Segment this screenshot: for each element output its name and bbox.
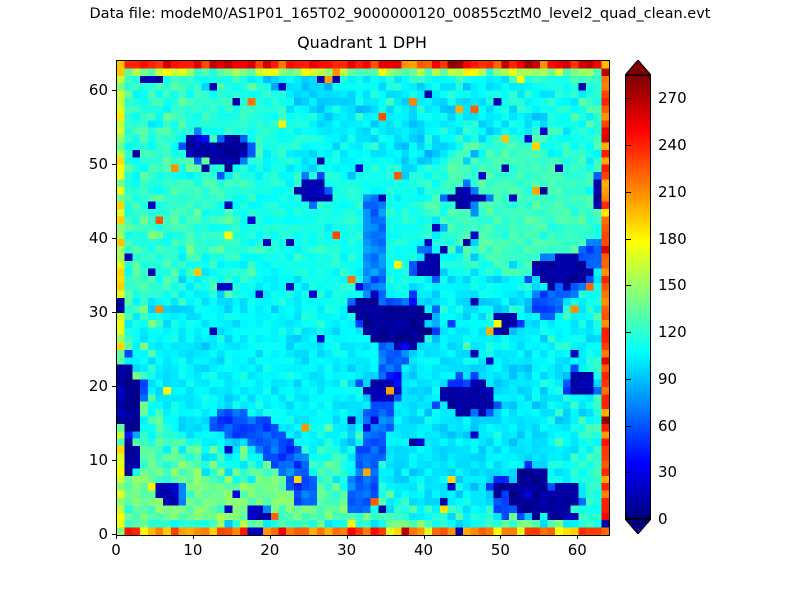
colorbar-extend-max-arrow [625,60,651,75]
y-tick [112,164,116,165]
x-tick-label: 30 [337,541,356,559]
colorbar-tick [626,145,631,146]
x-tick [347,535,348,539]
colorbar-tick [626,426,631,427]
x-tick-label: 10 [183,541,202,559]
y-tick [112,312,116,313]
colorbar-tick [626,519,631,520]
y-tick-label: 60 [72,81,108,99]
y-tick-label: 10 [72,451,108,469]
axes-title: Quadrant 1 DPH [116,33,608,52]
colorbar-tick [626,192,631,193]
x-tick-label: 40 [414,541,433,559]
colorbar-tick-label: 210 [658,183,687,201]
colorbar-tick [626,472,631,473]
colorbar[interactable]: 0306090120150180210240270 [625,60,651,534]
colorbar-tick [626,332,631,333]
y-tick [112,238,116,239]
heatmap-image[interactable] [117,61,609,535]
colorbar-tick-label: 270 [658,89,687,107]
colorbar-tick [626,239,631,240]
colorbar-extend-min-arrow [625,519,651,534]
x-tick-label: 50 [491,541,510,559]
y-tick [112,460,116,461]
heatmap-axes[interactable] [116,60,610,536]
y-tick-label: 30 [72,303,108,321]
y-tick-label: 40 [72,229,108,247]
x-tick [270,535,271,539]
x-tick-label: 0 [111,541,121,559]
colorbar-tick [626,379,631,380]
colorbar-tick-label: 30 [658,463,677,481]
colorbar-tick-label: 120 [658,323,687,341]
colorbar-tick-label: 180 [658,230,687,248]
colorbar-gradient [625,75,651,519]
x-tick [577,535,578,539]
y-tick-label: 0 [72,525,108,543]
x-tick [116,535,117,539]
colorbar-tick-label: 60 [658,417,677,435]
colorbar-tick-label: 150 [658,276,687,294]
y-tick [112,386,116,387]
figure-canvas: Data file: modeM0/AS1P01_165T02_90000001… [0,0,800,600]
figure-suptitle: Data file: modeM0/AS1P01_165T02_90000001… [0,6,800,22]
x-tick [193,535,194,539]
y-tick-label: 20 [72,377,108,395]
y-tick [112,534,116,535]
colorbar-tick [626,285,631,286]
x-tick [424,535,425,539]
x-tick [500,535,501,539]
colorbar-tick-label: 240 [658,136,687,154]
x-tick-label: 60 [568,541,587,559]
colorbar-tick-label: 0 [658,510,668,528]
y-tick-label: 50 [72,155,108,173]
x-tick-label: 20 [260,541,279,559]
colorbar-tick-label: 90 [658,370,677,388]
colorbar-tick [626,98,631,99]
y-tick [112,90,116,91]
